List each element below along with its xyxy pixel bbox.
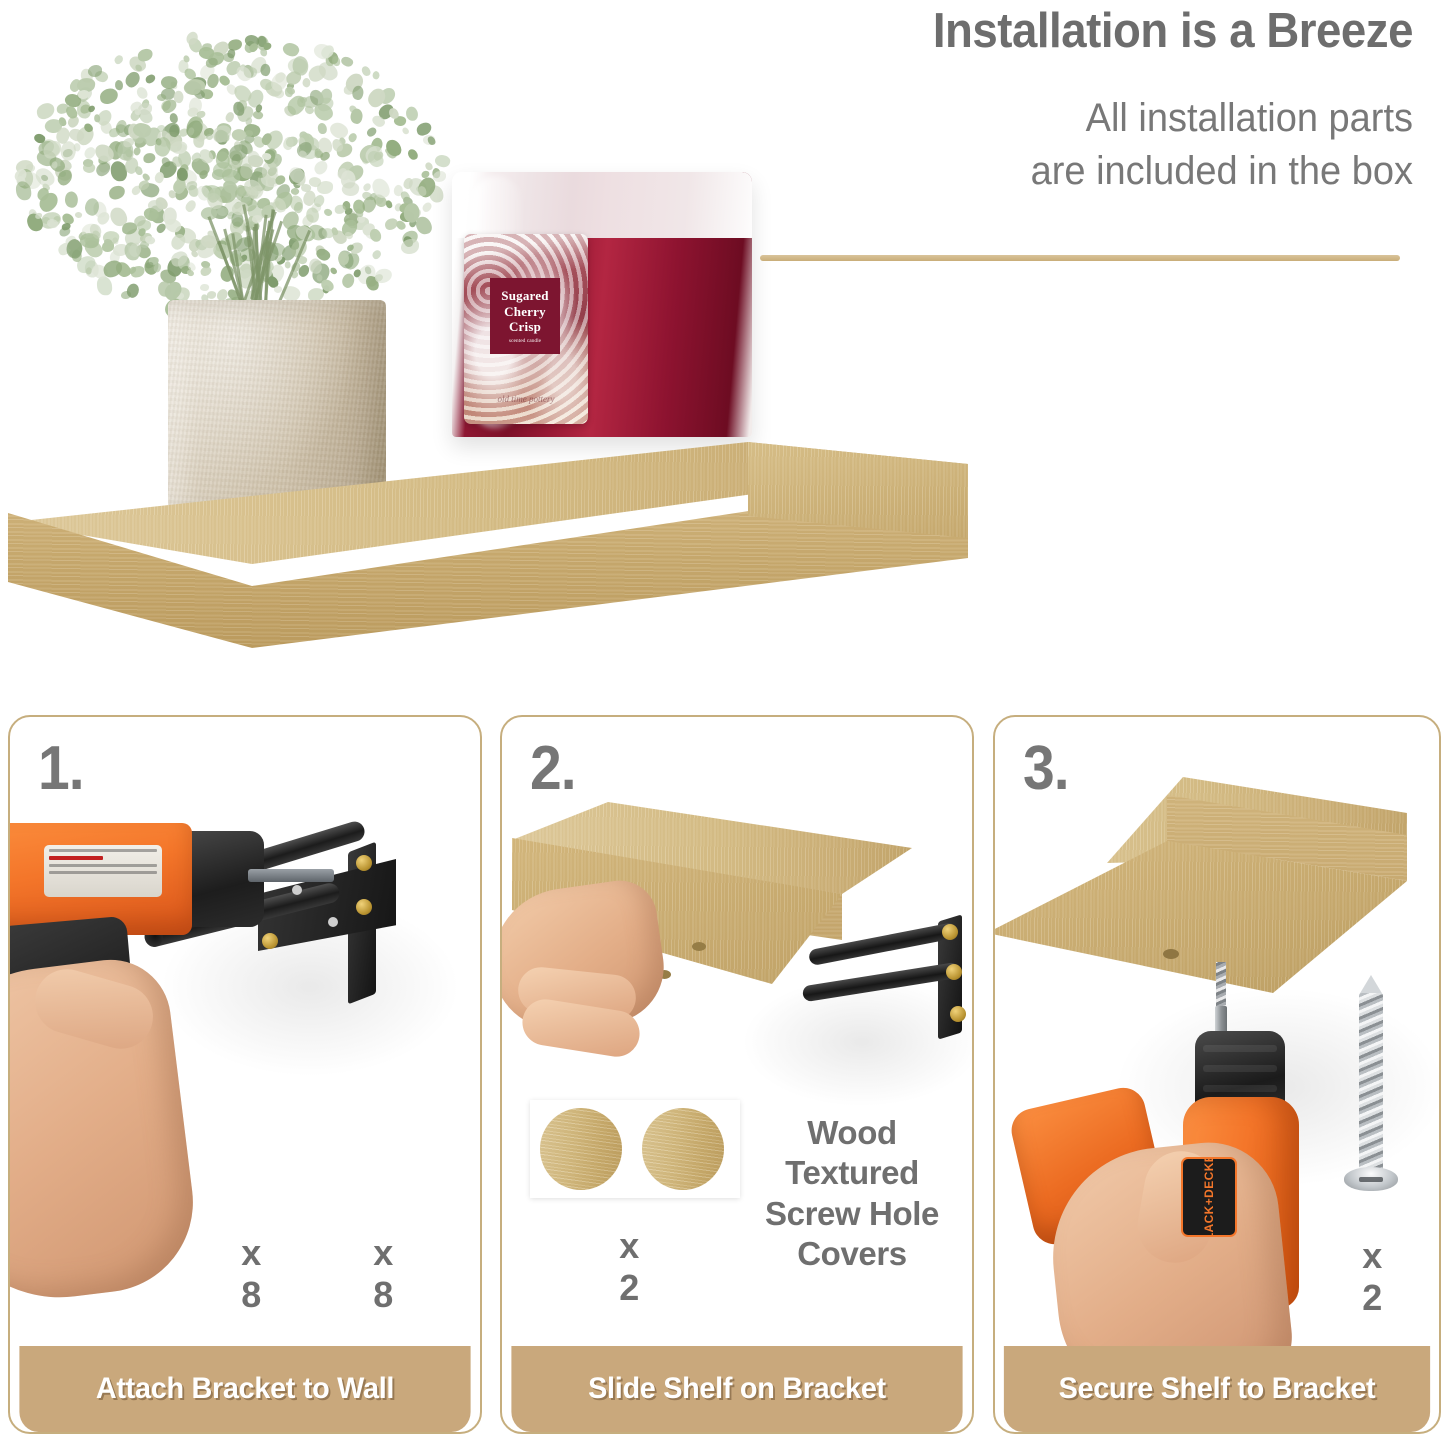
bracket-screw-mid xyxy=(946,964,962,980)
plant-leaf xyxy=(371,71,380,81)
plant-leaf xyxy=(433,170,446,181)
plate-line xyxy=(49,871,157,874)
screw-hole-3 xyxy=(1163,949,1179,959)
chuck-ridge-1 xyxy=(1203,1045,1277,1052)
plant-leaf xyxy=(384,217,399,230)
step-caption-3: Secure Shelf to Bracket xyxy=(1004,1346,1430,1432)
plant-leaf xyxy=(366,126,378,138)
plant-leaf xyxy=(329,266,338,275)
plant-leaf xyxy=(401,126,409,135)
plant-leaf xyxy=(145,74,157,84)
plant-leaf xyxy=(375,268,393,283)
plant-leaf xyxy=(200,266,212,277)
step-card-3: 3. BLACK+DECKER xyxy=(993,715,1441,1434)
drill-brand-text: BLACK+DECKER xyxy=(1202,1157,1216,1237)
plant-leaf xyxy=(35,212,43,218)
screw-qty-value: 8 xyxy=(216,1274,286,1316)
plant-leaf xyxy=(93,114,100,122)
cover-qty-2: x 2 xyxy=(594,1225,664,1310)
wood-cover-disc-2 xyxy=(642,1108,724,1190)
plant-leaf xyxy=(421,201,434,214)
plate-warning-line xyxy=(49,856,103,860)
screw-tip xyxy=(1359,975,1383,995)
plant-leaf xyxy=(406,106,419,121)
bracket-screw-top xyxy=(942,924,958,940)
plant-leaf xyxy=(114,80,123,91)
plant-leaf xyxy=(339,55,354,69)
candle-label-line-1: Sugared xyxy=(501,288,548,304)
plant-leaf xyxy=(322,207,333,218)
page-subtitle-line-1: All installation parts xyxy=(736,92,1413,145)
plant-leaf xyxy=(143,153,156,163)
plant-leaf xyxy=(233,102,244,116)
plant-leaf xyxy=(99,88,119,105)
plant-leaf xyxy=(88,64,103,76)
plant-leaf xyxy=(197,110,207,118)
hand-holding-shelf xyxy=(500,887,682,1077)
anchor-qty-1: x 8 xyxy=(348,1232,418,1317)
screw-qty-value: 2 xyxy=(1337,1277,1407,1319)
plant-leaf xyxy=(35,102,56,121)
chuck-ridge-3 xyxy=(1203,1085,1277,1092)
drill-brand-badge: BLACK+DECKER xyxy=(1181,1157,1237,1237)
drill-bit xyxy=(248,869,334,882)
cover-qty-prefix: x xyxy=(594,1225,664,1267)
plant-leaf xyxy=(123,138,135,149)
plant-leaf xyxy=(401,239,420,254)
screw-qty-prefix: x xyxy=(216,1232,286,1274)
plant-leaf xyxy=(370,249,382,260)
screw-qty-1: x 8 xyxy=(216,1232,286,1317)
plant-leaf xyxy=(362,182,372,192)
step-card-2: 2. x 2 Wood Textured xyxy=(500,715,974,1434)
plant-foliage xyxy=(0,0,460,330)
page-subtitle-line-2: are included in the box xyxy=(736,145,1413,198)
anchor-qty-prefix: x xyxy=(348,1232,418,1274)
callout-line-2: Textured xyxy=(746,1153,958,1193)
plant-leaf xyxy=(137,48,154,63)
hero-section: Sugared Cherry Crisp scented candle old … xyxy=(0,0,1445,700)
screw-qty-prefix: x xyxy=(1337,1235,1407,1277)
plant-leaf xyxy=(136,85,149,100)
plant-leaf xyxy=(332,56,341,66)
disc-grain xyxy=(642,1108,724,1190)
candle-label-line-2: Cherry xyxy=(504,304,546,320)
disc-grain xyxy=(540,1108,622,1190)
plant-leaf xyxy=(205,58,217,68)
plant-leaf xyxy=(312,159,330,176)
screw-head xyxy=(1344,1167,1398,1191)
anchor-qty-value: 8 xyxy=(348,1274,418,1316)
candle-label-box: Sugared Cherry Crisp scented candle xyxy=(490,278,560,354)
plant-leaf xyxy=(384,138,403,159)
callout-line-4: Covers xyxy=(746,1234,958,1274)
plant-leaf xyxy=(200,283,210,292)
plant-leaf xyxy=(262,42,272,50)
plant-leaf xyxy=(78,89,89,98)
plant-leaf xyxy=(172,89,184,103)
drill-illustration-1: LITHIUM xyxy=(8,817,312,1297)
plant-leaf xyxy=(108,185,126,201)
chuck-ridge-2 xyxy=(1203,1065,1277,1072)
candle-label-line-3: Crisp xyxy=(509,319,541,335)
plant-leaf xyxy=(112,54,124,65)
screw-qty-3: x 2 xyxy=(1337,1235,1407,1320)
hero-shelf xyxy=(8,398,968,663)
cover-qty-value: 2 xyxy=(594,1267,664,1309)
screw-shaft xyxy=(1359,993,1383,1173)
header-divider xyxy=(760,255,1400,261)
screw-thread xyxy=(1216,962,1226,1008)
plant-leaf xyxy=(259,63,272,78)
plant-leaf xyxy=(370,228,382,242)
plant-leaf xyxy=(184,198,199,213)
candle-label: Sugared Cherry Crisp scented candle old … xyxy=(464,234,588,424)
plant-leaf xyxy=(361,66,372,78)
page-subtitle: All installation parts are included in t… xyxy=(736,92,1413,198)
plant-leaf xyxy=(74,211,83,219)
step-number-2: 2. xyxy=(530,733,576,804)
plant-leaf xyxy=(63,190,79,209)
page-title: Installation is a Breeze xyxy=(750,6,1413,58)
plate-line xyxy=(49,849,157,852)
drill-spec-plate xyxy=(44,845,162,897)
plant-leaf xyxy=(82,162,97,175)
callout-line-1: Wood xyxy=(746,1113,958,1153)
plant-leaf xyxy=(385,200,393,209)
plant-leaf xyxy=(317,181,333,195)
plant-leaf xyxy=(318,123,327,134)
plant-leaf xyxy=(407,148,420,162)
bracket-screw-top xyxy=(356,855,372,871)
step-number-1: 1. xyxy=(38,733,84,804)
candle-label-subtitle: scented candle xyxy=(509,338,541,344)
screw-hole-covers-swatch xyxy=(530,1100,740,1198)
bracket-screw-bottom xyxy=(356,899,372,915)
plant-leaf xyxy=(251,214,262,223)
wood-cover-callout: Wood Textured Screw Hole Covers xyxy=(746,1113,958,1274)
step-number-3: 3. xyxy=(1023,733,1069,804)
bracket-screw-bottom xyxy=(950,1006,966,1022)
screw-hole-1 xyxy=(692,942,706,951)
step-card-1: 1. LITHIUM xyxy=(8,715,482,1434)
drill-illustration-3: BLACK+DECKER xyxy=(1033,1039,1363,1399)
step-caption-1: Attach Bracket to Wall xyxy=(19,1346,470,1432)
plant-leaf xyxy=(347,132,359,144)
wood-cover-disc-1 xyxy=(540,1108,622,1190)
plant-leaf xyxy=(184,55,190,62)
bracket-hole-2 xyxy=(328,917,338,927)
step-caption-2: Slide Shelf on Bracket xyxy=(511,1346,962,1432)
callout-line-3: Screw Hole xyxy=(746,1194,958,1234)
shelf-illustration-3 xyxy=(993,777,1407,1027)
plate-line xyxy=(49,864,157,867)
